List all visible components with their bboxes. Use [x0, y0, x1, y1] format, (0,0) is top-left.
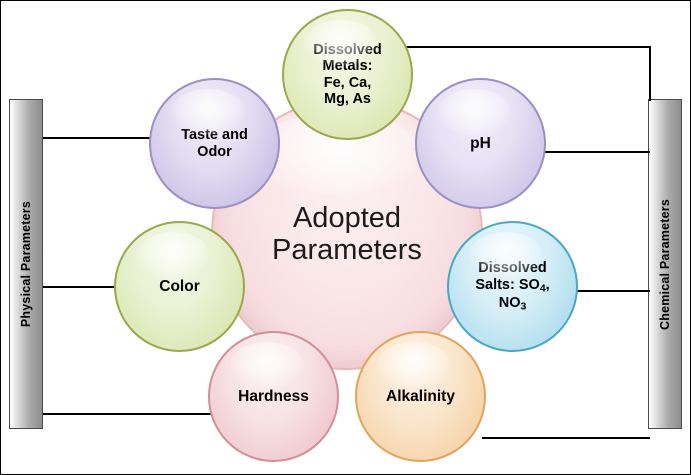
- center-bubble-line1: Adopted: [293, 202, 401, 234]
- connector-metals-vertical: [649, 46, 651, 101]
- bubble-hardness[interactable]: Hardness: [208, 331, 339, 462]
- connector-chemical-salts: [573, 290, 650, 292]
- bubble-dissolved-metals-line3: Fe, Ca,: [324, 75, 372, 91]
- physical-parameters-label: Physical Parameters: [19, 201, 33, 327]
- bubble-taste-and-odor-line2: Odor: [197, 144, 232, 160]
- center-bubble-label: Adopted Parameters: [266, 202, 428, 267]
- connector-physical-hardness: [43, 413, 215, 415]
- bubble-taste-and-odor-line1: Taste and: [181, 127, 248, 143]
- diagram-canvas: Physical Parameters Chemical Parameters …: [0, 0, 691, 475]
- physical-parameters-panel: Physical Parameters: [9, 99, 43, 429]
- bubble-dissolved-salts[interactable]: Dissolved Salts: SO4, NO3: [447, 221, 578, 352]
- bubble-alkalinity-label: Alkalinity: [380, 388, 461, 405]
- bubble-color-label: Color: [153, 278, 205, 295]
- bubble-color[interactable]: Color: [114, 221, 245, 352]
- connector-chemical-ph: [542, 151, 650, 153]
- bubble-dissolved-metals-line2: Metals:: [323, 58, 373, 74]
- connector-physical-taste-odor: [43, 137, 153, 139]
- bubble-dissolved-metals[interactable]: Dissolved Metals: Fe, Ca, Mg, As: [282, 9, 413, 140]
- connector-chemical-alkalinity: [482, 437, 650, 439]
- connector-metals-horizontal: [405, 46, 650, 48]
- bubble-ph[interactable]: pH: [415, 78, 546, 209]
- bubble-dissolved-salts-line3: NO3: [499, 295, 527, 311]
- salts-no3-subscript: 3: [520, 301, 526, 312]
- chemical-parameters-panel: Chemical Parameters: [648, 99, 682, 429]
- bubble-hardness-label: Hardness: [232, 388, 315, 405]
- center-bubble-line2: Parameters: [272, 234, 422, 266]
- bubble-dissolved-salts-line1: Dissolved: [478, 260, 547, 276]
- bubble-dissolved-salts-label: Dissolved Salts: SO4, NO3: [469, 260, 555, 312]
- bubble-dissolved-metals-line4: Mg, As: [324, 91, 371, 107]
- chemical-parameters-label: Chemical Parameters: [658, 199, 672, 330]
- connector-physical-color: [43, 286, 118, 288]
- bubble-dissolved-metals-line1: Dissolved: [313, 42, 382, 58]
- bubble-alkalinity[interactable]: Alkalinity: [355, 331, 486, 462]
- bubble-taste-and-odor[interactable]: Taste and Odor: [149, 78, 280, 209]
- bubble-taste-and-odor-label: Taste and Odor: [175, 127, 254, 159]
- bubble-dissolved-salts-line2: Salts: SO4,: [475, 277, 549, 293]
- bubble-ph-label: pH: [464, 135, 497, 152]
- bubble-dissolved-metals-label: Dissolved Metals: Fe, Ca, Mg, As: [307, 42, 388, 107]
